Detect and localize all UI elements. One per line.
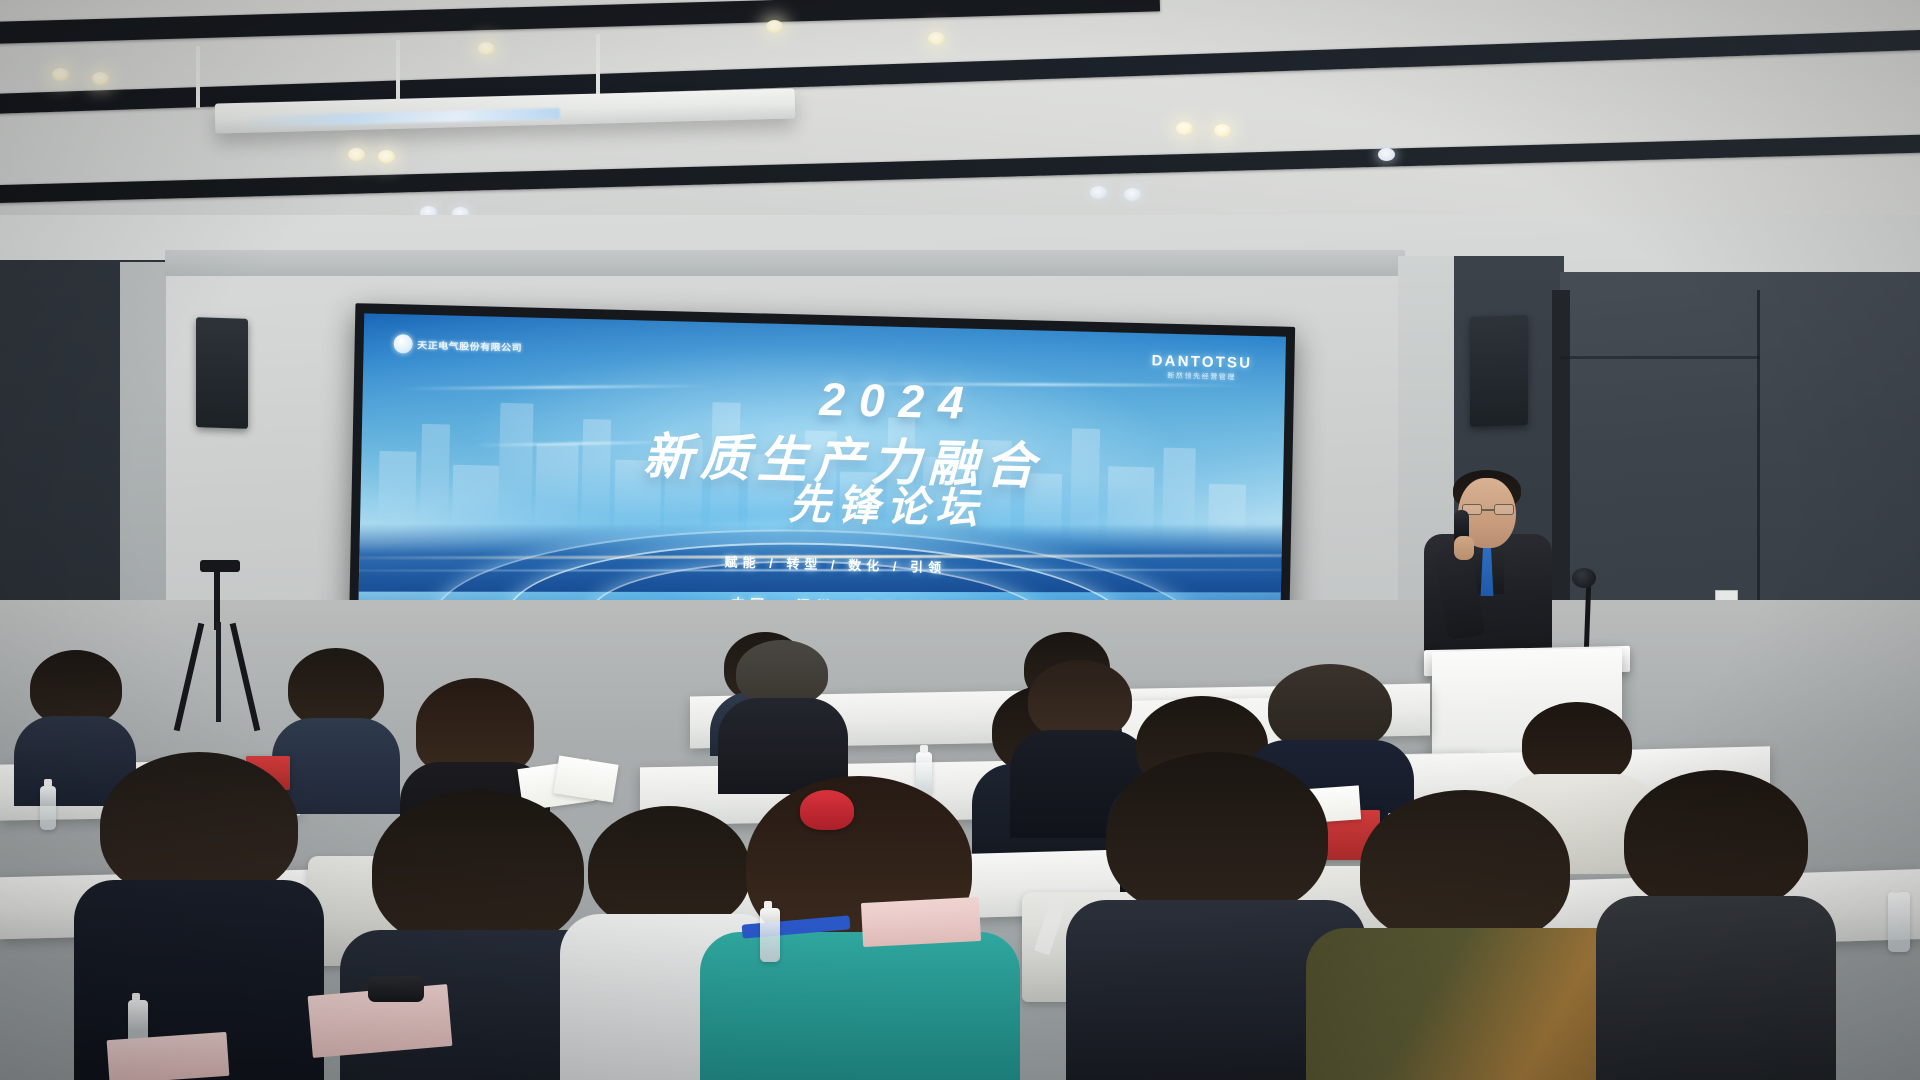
ceiling-spotlight (378, 150, 395, 163)
presenter-person (1418, 468, 1558, 668)
screen-logo-left-label: 天正电气股份有限公司 (417, 338, 522, 354)
company-logo-mark-icon (393, 334, 412, 353)
list-item (1596, 770, 1836, 1080)
ceiling-spotlight (348, 148, 365, 161)
attendee-front-olive-jacket (74, 752, 324, 1080)
pink-notepad[interactable] (107, 1032, 230, 1080)
ceiling-spotlight (92, 72, 109, 85)
ceiling-spotlight (1090, 186, 1107, 199)
screen-logo-left: 天正电气股份有限公司 (393, 334, 522, 356)
red-hair-bow (800, 790, 854, 830)
ceiling-strip (0, 134, 1920, 204)
wall-loudspeaker (196, 317, 248, 429)
ceiling-spotlight (52, 68, 69, 81)
pink-notepad[interactable] (861, 897, 981, 947)
wall-upper-band (165, 250, 1405, 276)
attendee-red-lanyard (718, 640, 848, 790)
ceiling-strip (0, 0, 1160, 45)
ceiling-spotlight (766, 20, 783, 33)
led-screen-content: 天正电气股份有限公司 DANTOTSU 断然领先经营管理 2024 新质生产力融… (358, 313, 1286, 647)
tripod-column (214, 570, 220, 630)
water-bottle[interactable] (40, 786, 56, 830)
screen-logo-right: DANTOTSU 断然领先经营管理 (1151, 352, 1252, 383)
ceiling-spotlight (928, 32, 945, 45)
pendant-hanger (196, 46, 200, 108)
pendant-hanger (396, 40, 400, 106)
conference-hall-scene: 天正电气股份有限公司 DANTOTSU 断然领先经营管理 2024 新质生产力融… (0, 0, 1920, 1080)
ceiling-spotlight (1378, 148, 1395, 161)
screen-brand-label: DANTOTSU (1151, 352, 1252, 372)
wall-loudspeaker (1470, 315, 1528, 427)
tripod-leg (216, 622, 221, 722)
presenter-hand (1454, 536, 1474, 560)
ceiling-spotlight (478, 42, 495, 55)
water-bottle[interactable] (1888, 892, 1910, 952)
ceiling-spotlight (1214, 124, 1231, 137)
ceiling-spotlight (1176, 122, 1193, 135)
gooseneck-microphone-head-icon (1572, 568, 1596, 588)
presenter-glasses-icon (1462, 504, 1514, 515)
ceiling-spotlight (1124, 188, 1141, 201)
remote-control[interactable] (368, 976, 424, 1002)
water-bottle[interactable] (760, 908, 780, 962)
wall-seam (1560, 356, 1760, 359)
tripod-head (200, 560, 240, 572)
list-item (1306, 790, 1636, 1080)
